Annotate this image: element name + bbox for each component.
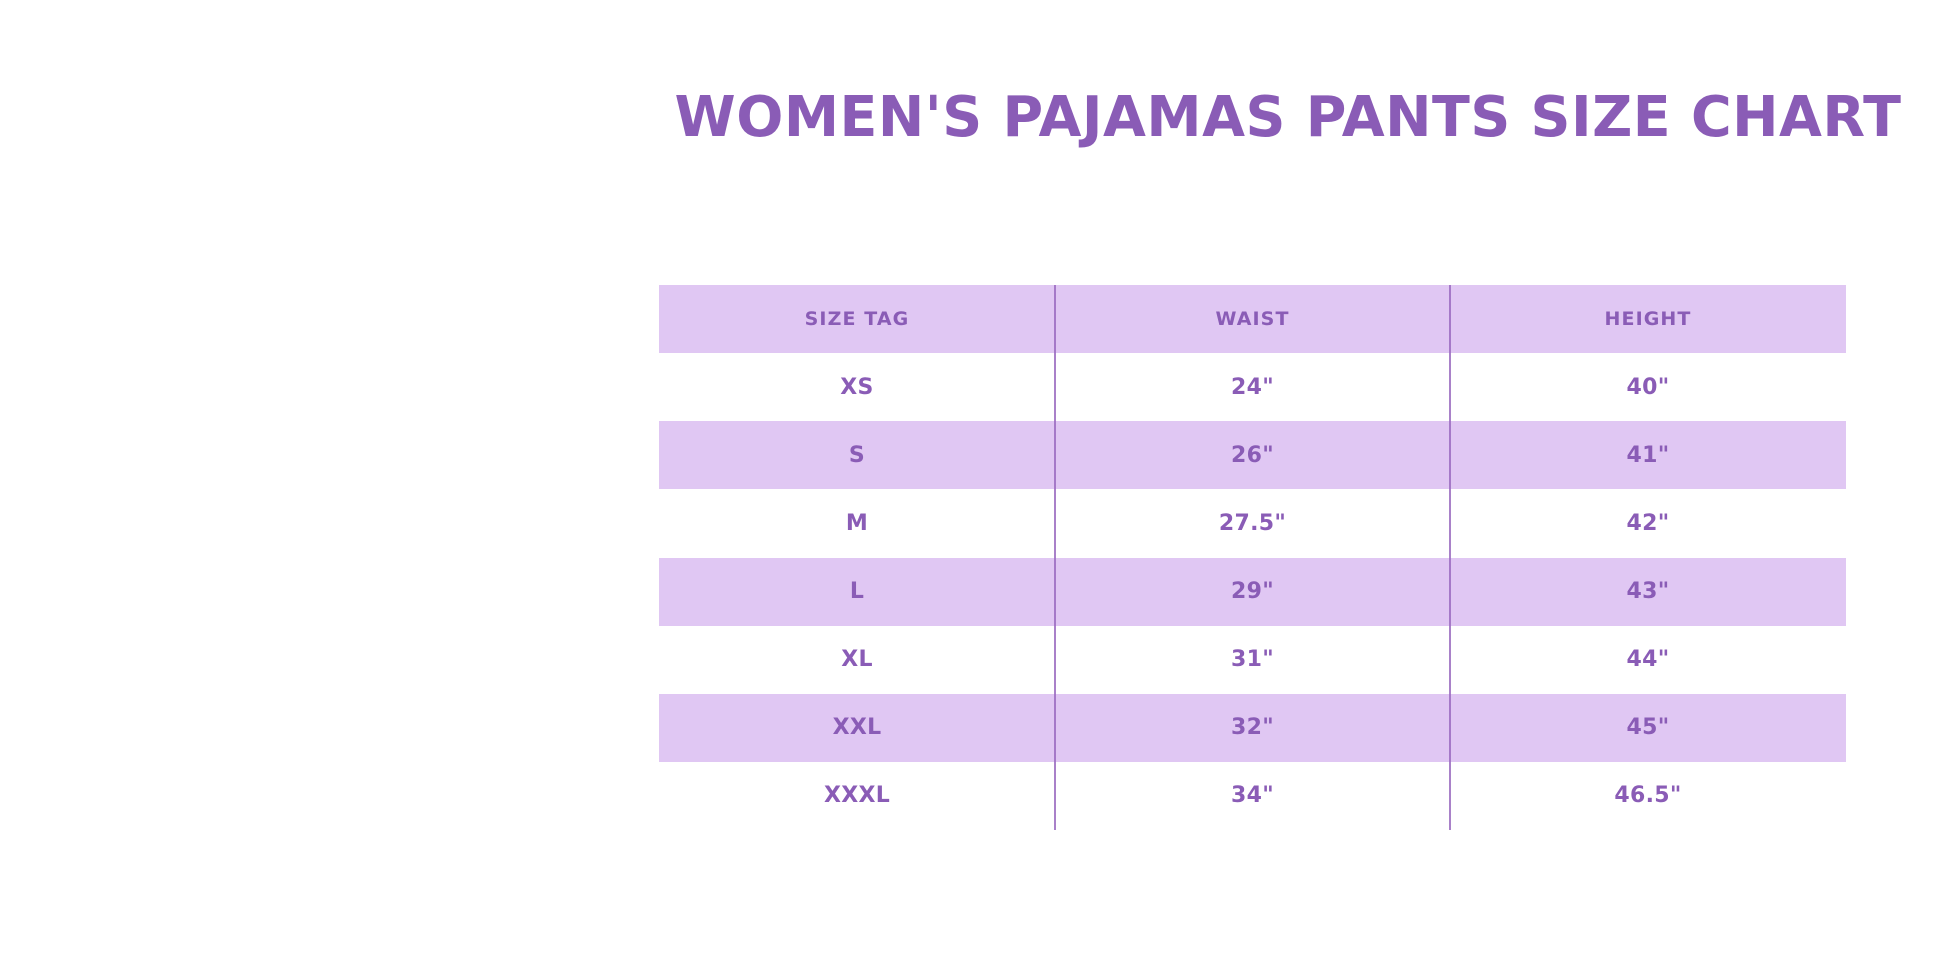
cell-height: 40" bbox=[1450, 375, 1846, 400]
cell-size-tag: XXXL bbox=[659, 783, 1055, 808]
table-row: XL 31" 44" bbox=[659, 626, 1846, 694]
cell-size-tag: XS bbox=[659, 375, 1055, 400]
cell-size-tag: XXL bbox=[659, 715, 1055, 740]
table-row: XXXL 34" 46.5" bbox=[659, 762, 1846, 830]
column-header-height: HEIGHT bbox=[1450, 308, 1846, 330]
table-row: S 26" 41" bbox=[659, 421, 1846, 489]
cell-waist: 29" bbox=[1055, 579, 1450, 604]
cell-height: 46.5" bbox=[1450, 783, 1846, 808]
column-header-size-tag: SIZE TAG bbox=[659, 308, 1055, 330]
cell-size-tag: S bbox=[659, 443, 1055, 468]
cell-waist: 32" bbox=[1055, 715, 1450, 740]
cell-waist: 26" bbox=[1055, 443, 1450, 468]
cell-height: 44" bbox=[1450, 647, 1846, 672]
cell-waist: 24" bbox=[1055, 375, 1450, 400]
table-header-row: SIZE TAG WAIST HEIGHT bbox=[659, 285, 1846, 353]
cell-height: 45" bbox=[1450, 715, 1846, 740]
table-row: L 29" 43" bbox=[659, 558, 1846, 626]
cell-size-tag: XL bbox=[659, 647, 1055, 672]
column-divider-1 bbox=[1054, 285, 1056, 830]
cell-size-tag: M bbox=[659, 511, 1055, 536]
cell-height: 41" bbox=[1450, 443, 1846, 468]
page-title: WOMEN'S PAJAMAS PANTS SIZE CHART bbox=[666, 86, 1909, 150]
cell-waist: 34" bbox=[1055, 783, 1450, 808]
cell-height: 42" bbox=[1450, 511, 1846, 536]
size-chart-table: SIZE TAG WAIST HEIGHT XS 24" 40" S 26" 4… bbox=[659, 285, 1846, 830]
table-row: XS 24" 40" bbox=[659, 353, 1846, 421]
cell-size-tag: L bbox=[659, 579, 1055, 604]
cell-waist: 31" bbox=[1055, 647, 1450, 672]
size-chart-page: WOMEN'S PAJAMAS PANTS SIZE CHART SIZE TA… bbox=[0, 0, 1946, 973]
table-row: M 27.5" 42" bbox=[659, 489, 1846, 557]
cell-waist: 27.5" bbox=[1055, 511, 1450, 536]
column-header-waist: WAIST bbox=[1055, 308, 1450, 330]
cell-height: 43" bbox=[1450, 579, 1846, 604]
column-divider-2 bbox=[1449, 285, 1451, 830]
table-row: XXL 32" 45" bbox=[659, 694, 1846, 762]
